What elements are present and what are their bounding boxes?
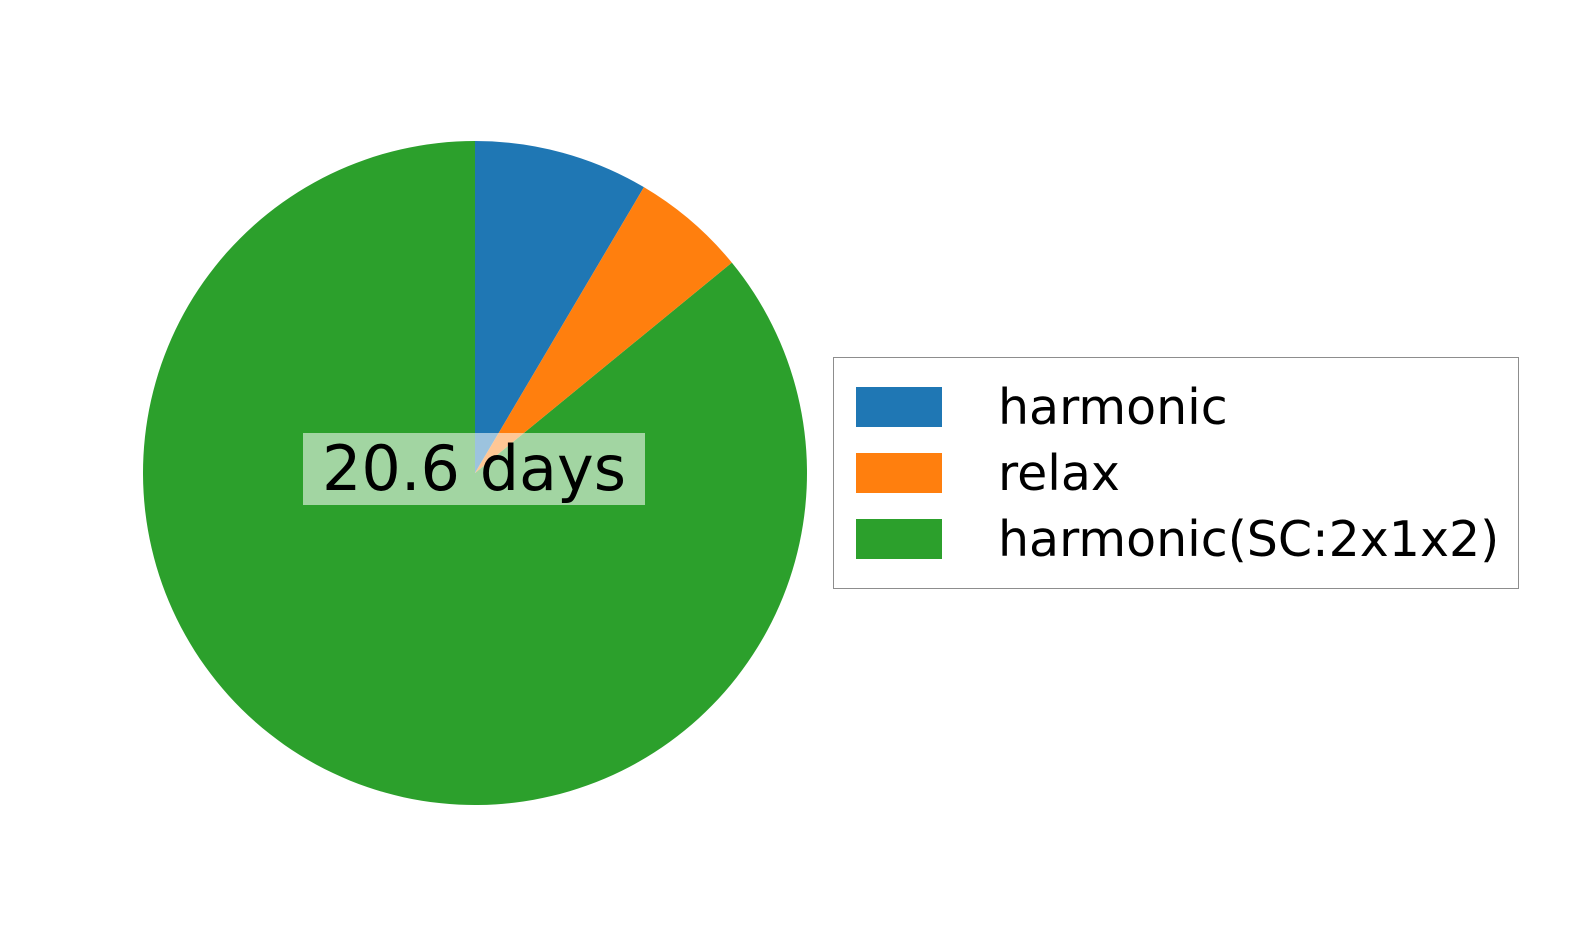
legend-label-harmonic: harmonic bbox=[998, 383, 1228, 432]
legend-label-harmonic-sc-2x1x2: harmonic(SC:2x1x2) bbox=[998, 515, 1499, 564]
legend-swatch-relax bbox=[856, 453, 942, 493]
legend-entry-harmonic[interactable]: harmonic bbox=[856, 376, 1496, 438]
legend-entry-harmonic-sc-2x1x2[interactable]: harmonic(SC:2x1x2) bbox=[856, 508, 1496, 570]
figure-canvas: 20.6 days harmonic relax harmonic(SC:2x1… bbox=[0, 0, 1584, 951]
legend-label-relax: relax bbox=[998, 449, 1120, 498]
legend-entry-relax[interactable]: relax bbox=[856, 442, 1496, 504]
legend: harmonic relax harmonic(SC:2x1x2) bbox=[833, 357, 1519, 589]
legend-swatch-harmonic bbox=[856, 387, 942, 427]
pie-wedges bbox=[143, 141, 807, 805]
legend-swatch-harmonic-sc-2x1x2 bbox=[856, 519, 942, 559]
